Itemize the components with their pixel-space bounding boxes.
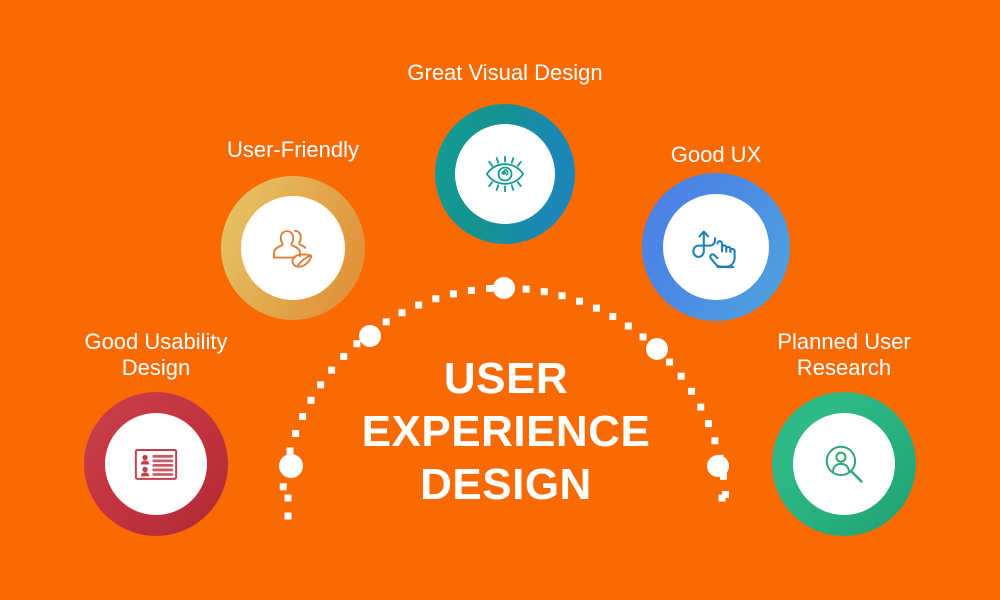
node-label-good-usability-design: Good Usability Design (6, 329, 306, 381)
arc-dot (722, 491, 729, 498)
node-label-planned-user-research: Planned User Research (694, 329, 994, 381)
arc-dot (287, 447, 294, 454)
node-label-great-visual-design: Great Visual Design (355, 60, 655, 86)
arc-dot (399, 309, 406, 316)
node-inner-great-visual-design (455, 124, 555, 224)
hand-gesture-icon (686, 217, 746, 277)
arc-dot (282, 465, 289, 472)
arc-dot (720, 473, 727, 480)
node-inner-user-friendly (241, 196, 345, 300)
arc-dot (716, 455, 723, 462)
arc-dot (292, 430, 299, 437)
node-inner-good-usability-design (105, 413, 207, 515)
title-line-2: EXPERIENCE (300, 405, 712, 458)
node-circle-good-usability-design[interactable] (84, 392, 228, 536)
arc-dot (353, 340, 360, 347)
arc-dot (541, 288, 548, 295)
arc-dot (486, 285, 493, 292)
node-circle-great-visual-design[interactable] (435, 104, 575, 244)
arc-dot (559, 292, 566, 299)
eye-icon (476, 145, 534, 203)
node-circle-good-ux[interactable] (642, 173, 790, 321)
arc-dot (504, 285, 511, 292)
title-line-3: DESIGN (300, 458, 712, 511)
arc-dot (640, 333, 647, 340)
arc-dot (576, 298, 583, 305)
node-inner-good-ux (663, 194, 769, 300)
arc-dot (285, 495, 292, 502)
arc-dot (719, 495, 726, 502)
arc-dot (280, 483, 287, 490)
title-line-1: USER (300, 352, 712, 405)
node-inner-planned-user-research (793, 413, 895, 515)
arc-dot (625, 323, 632, 330)
node-circle-user-friendly[interactable] (221, 176, 365, 320)
arc-dot (450, 290, 457, 297)
arc-dot (415, 302, 422, 309)
user-list-card-icon (128, 436, 184, 492)
arc-node-dot (359, 325, 381, 347)
arc-node-dot (493, 277, 515, 299)
arc-dot (609, 313, 616, 320)
arc-dot (711, 437, 718, 444)
infographic-canvas: USER EXPERIENCE DESIGN User-Friendly Gre… (0, 0, 1000, 600)
arc-dot (368, 329, 375, 336)
node-circle-planned-user-research[interactable] (772, 392, 916, 536)
node-label-user-friendly: User-Friendly (143, 137, 443, 163)
arc-dot (432, 295, 439, 302)
arc-dot (523, 286, 530, 293)
arc-dot (285, 513, 292, 520)
node-label-good-ux: Good UX (566, 142, 866, 168)
people-leaf-icon (264, 219, 322, 277)
arc-dot (593, 305, 600, 312)
arc-dot (468, 287, 475, 294)
page-title: USER EXPERIENCE DESIGN (300, 352, 712, 511)
arc-dot (383, 318, 390, 325)
user-search-icon (816, 436, 872, 492)
